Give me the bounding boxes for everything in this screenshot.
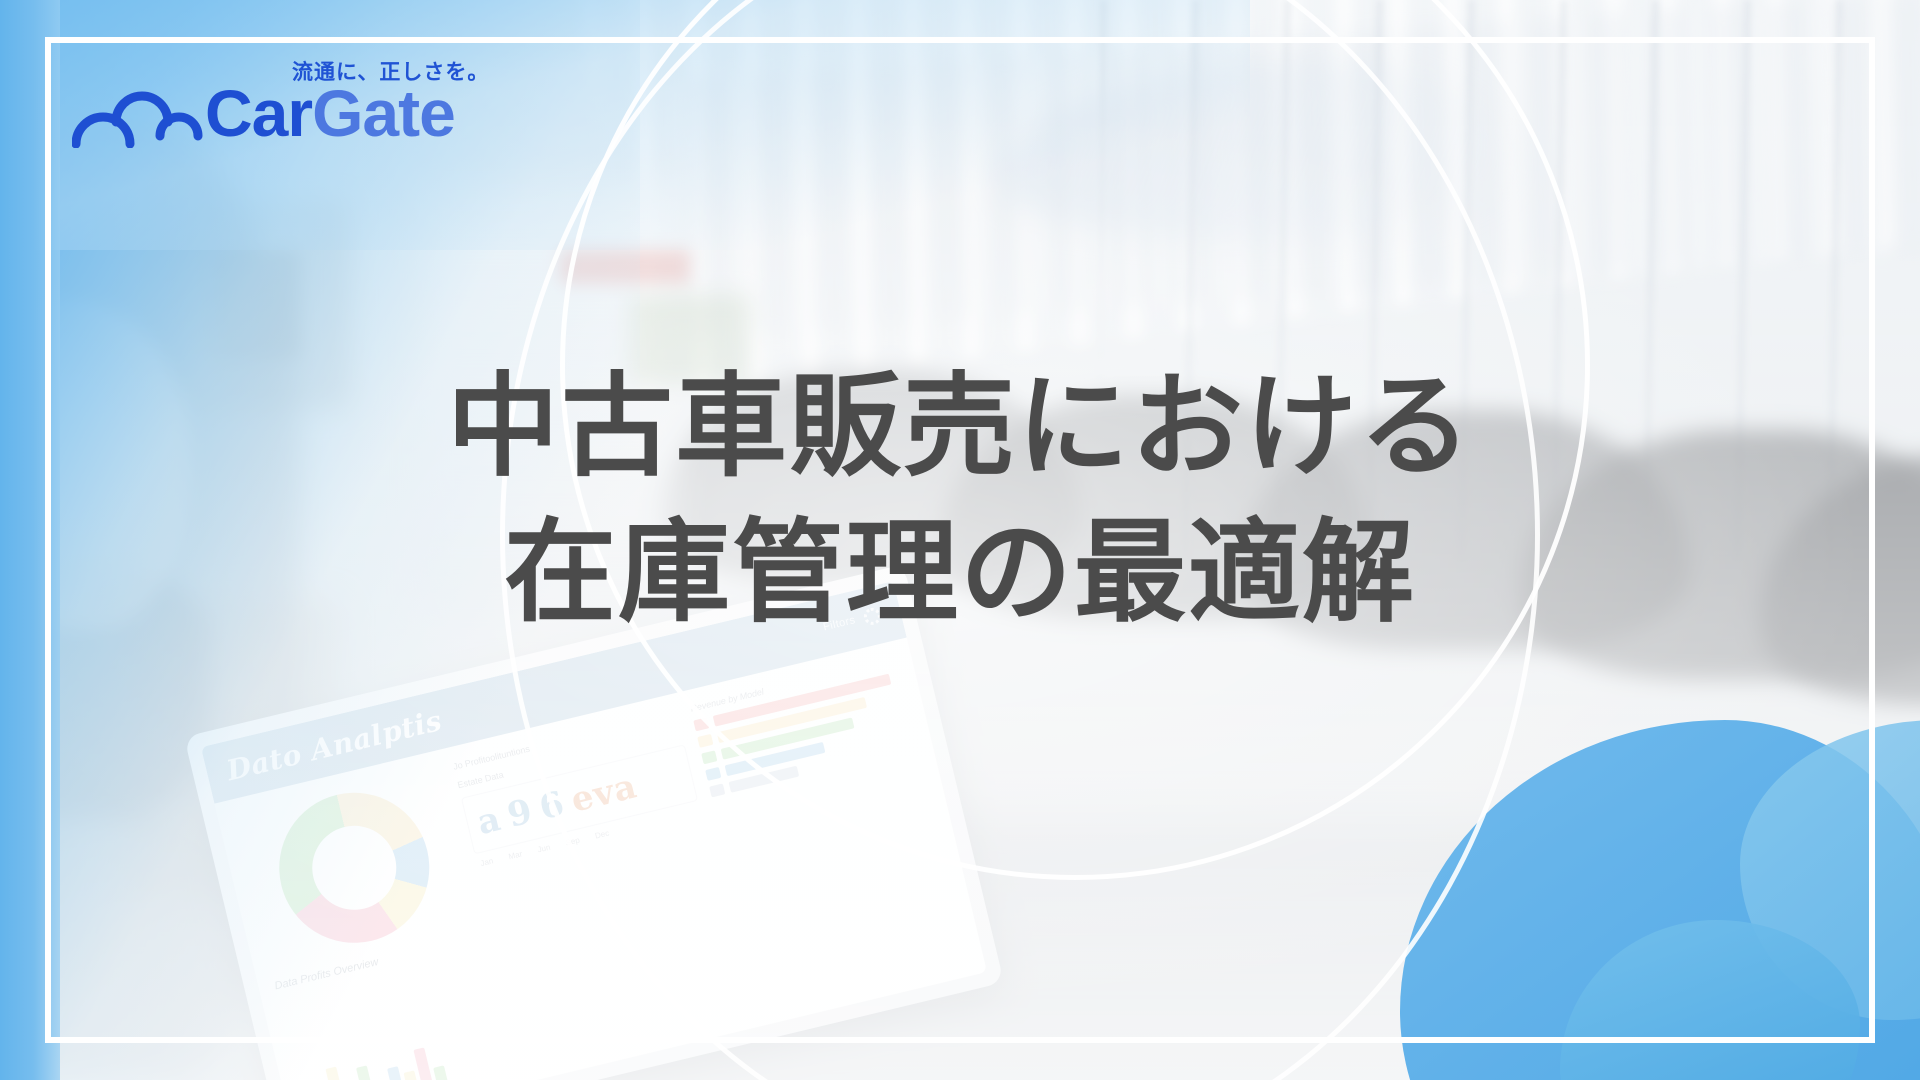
logo-word-car: Car xyxy=(205,76,312,150)
logo-wordmark: CarGate xyxy=(205,80,455,146)
hero-banner: Dato Analptis Filtors Data Profits Overv… xyxy=(0,0,1920,1080)
page-title-line-1: 中古車販売における xyxy=(0,355,1920,501)
cargate-logo[interactable]: 流通に、正しさを。 CarGate xyxy=(72,58,472,158)
page-title: 中古車販売における 在庫管理の最適解 xyxy=(0,355,1920,646)
cloud-icon xyxy=(72,86,210,148)
logo-word-gate: Gate xyxy=(312,76,455,150)
page-title-line-2: 在庫管理の最適解 xyxy=(0,501,1920,647)
